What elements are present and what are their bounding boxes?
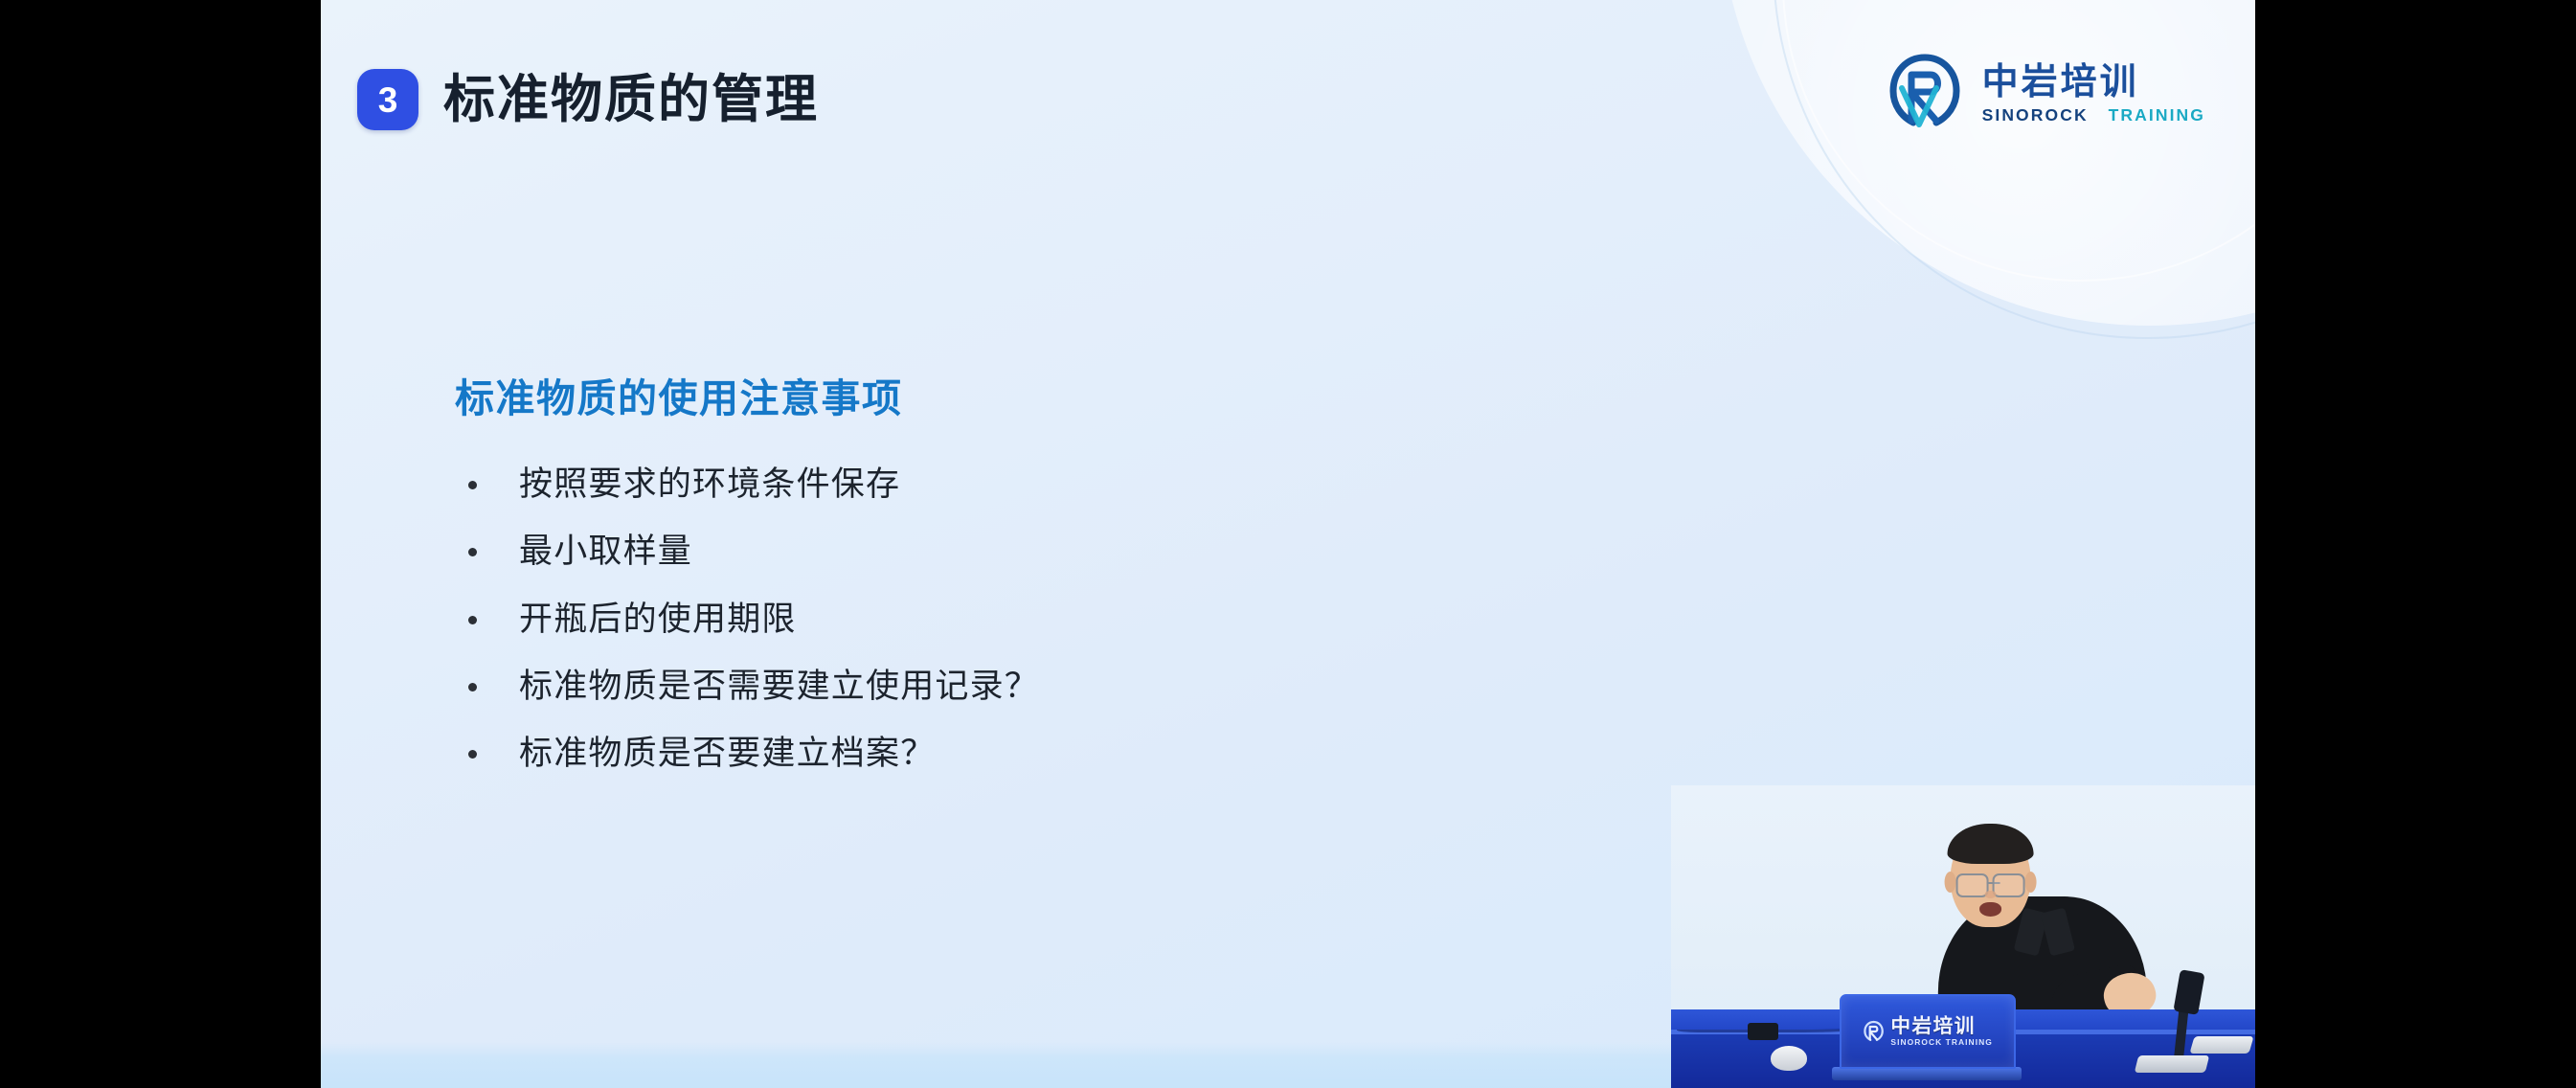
phone-stand-base [2135,1055,2209,1073]
presentation-slide: 3 标准物质的管理 中岩培训 SINOROCK [321,0,2255,1088]
list-item-label: 标准物质是否要建立档案？ [519,731,935,776]
content-heading: 标准物质的使用注意事项 [455,366,1652,423]
presenter-head [1951,827,2031,927]
laptop-r-monogram-icon [1863,1020,1886,1043]
brand-name-en-part2: TRAINING [2109,105,2205,125]
slide-title-group: 3 标准物质的管理 [357,69,819,130]
page-title: 标准物质的管理 [443,73,819,127]
bullet-dot-icon [468,548,477,556]
video-player: 3 标准物质的管理 中岩培训 SINOROCK [0,0,2576,1088]
laptop-base [1832,1067,2022,1080]
section-number-text: 3 [378,82,398,118]
bullet-dot-icon [468,481,477,489]
list-item-label: 开瓶后的使用期限 [519,597,797,642]
brand-text: 中岩培训 SINOROCK TRAINING [1982,64,2205,125]
list-item-label: 按照要求的环境条件保存 [519,462,900,507]
bullet-dot-icon [468,683,477,691]
brand-name-en-part1: SINOROCK [1982,105,2089,125]
bullet-dot-icon [468,750,477,759]
presenter-nose [1985,891,1997,898]
list-item: 最小取样量 [455,529,1652,574]
letterbox-bar-right [2255,0,2576,1088]
presenter-collar-right [2041,908,2075,957]
bullet-list: 按照要求的环境条件保存 最小取样量 开瓶后的使用期限 标准物质是否需要建立使用记… [455,462,1652,776]
laptop-logo-text: 中岩培训 SINOROCK TRAINING [1891,1016,1993,1047]
glasses-lens-right [1993,873,2025,897]
brand-name-cn: 中岩培训 [1982,64,2205,101]
letterbox-bar-left [0,0,321,1088]
laptop-lid: 中岩培训 SINOROCK TRAINING [1840,994,2016,1069]
slide-header: 3 标准物质的管理 中岩培训 SINOROCK [321,0,2255,201]
section-number-badge: 3 [357,69,418,130]
list-item-label: 标准物质是否需要建立使用记录？ [519,664,1039,709]
bullet-dot-icon [468,616,477,624]
glasses-lens-left [1956,873,1989,897]
presenter-mouth [1979,902,2001,917]
desk-device [1748,1023,1778,1040]
list-item: 按照要求的环境条件保存 [455,462,1652,507]
list-item: 标准物质是否需要建立使用记录？ [455,664,1652,709]
laptop-logo-en: SINOROCK TRAINING [1891,1039,1993,1047]
slide-content: 标准物质的使用注意事项 按照要求的环境条件保存 最小取样量 开瓶后的使用期限 标… [455,366,1652,776]
desk-pad [2189,1036,2253,1054]
list-item: 标准物质是否要建立档案？ [455,731,1652,776]
brand-logo: 中岩培训 SINOROCK TRAINING [1883,50,2205,139]
computer-mouse [1771,1046,1807,1071]
list-item: 开瓶后的使用期限 [455,597,1652,642]
brand-name-en: SINOROCK TRAINING [1982,107,2205,125]
list-item-label: 最小取样量 [519,529,692,574]
laptop-brand-logo: 中岩培训 SINOROCK TRAINING [1863,1016,1993,1047]
laptop-logo-cn: 中岩培训 [1891,1016,1993,1036]
sinorock-r-monogram-icon [1883,50,1967,139]
presenter-video-overlay: 中岩培训 SINOROCK TRAINING [1671,785,2255,1088]
